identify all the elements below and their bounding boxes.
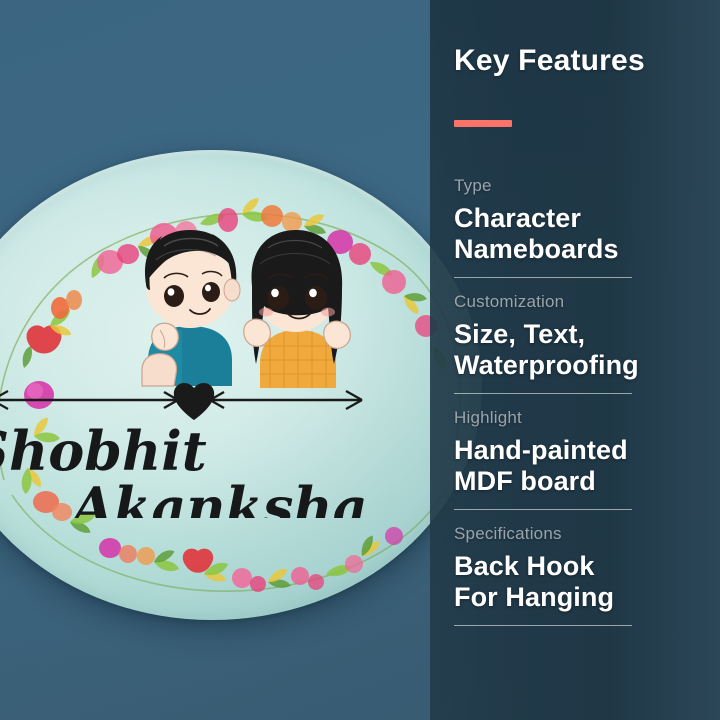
- feature-item-type: Type Character Nameboards: [454, 176, 696, 278]
- feature-label: Highlight: [454, 408, 696, 428]
- feature-divider: [454, 625, 632, 626]
- feature-divider: [454, 393, 632, 394]
- oval-mdf-board: Shobhit Akanksha: [0, 150, 482, 620]
- feature-value: Size, Text, Waterproofing: [454, 319, 696, 381]
- feature-item-highlight: Highlight Hand-painted MDF board: [454, 408, 696, 510]
- feature-label: Type: [454, 176, 696, 196]
- feature-divider: [454, 509, 632, 510]
- features-list: Type Character Nameboards Customization …: [454, 176, 696, 640]
- feature-value: Hand-painted MDF board: [454, 435, 696, 497]
- feature-value: Back Hook For Hanging: [454, 551, 696, 613]
- nameboard-product-photo: Shobhit Akanksha: [0, 150, 482, 620]
- feature-item-customization: Customization Size, Text, Waterproofing: [454, 292, 696, 394]
- feature-label: Customization: [454, 292, 696, 312]
- feature-label: Specifications: [454, 524, 696, 544]
- feature-item-specifications: Specifications Back Hook For Hanging: [454, 524, 696, 626]
- page-title: Key Features: [454, 44, 645, 78]
- feature-divider: [454, 277, 632, 278]
- feature-value: Character Nameboards: [454, 203, 696, 265]
- accent-underline-bar: [454, 120, 512, 127]
- product-infographic: Shobhit Akanksha Key Features Type Chara…: [0, 0, 720, 720]
- key-features-panel: Key Features Type Character Nameboards C…: [430, 0, 720, 720]
